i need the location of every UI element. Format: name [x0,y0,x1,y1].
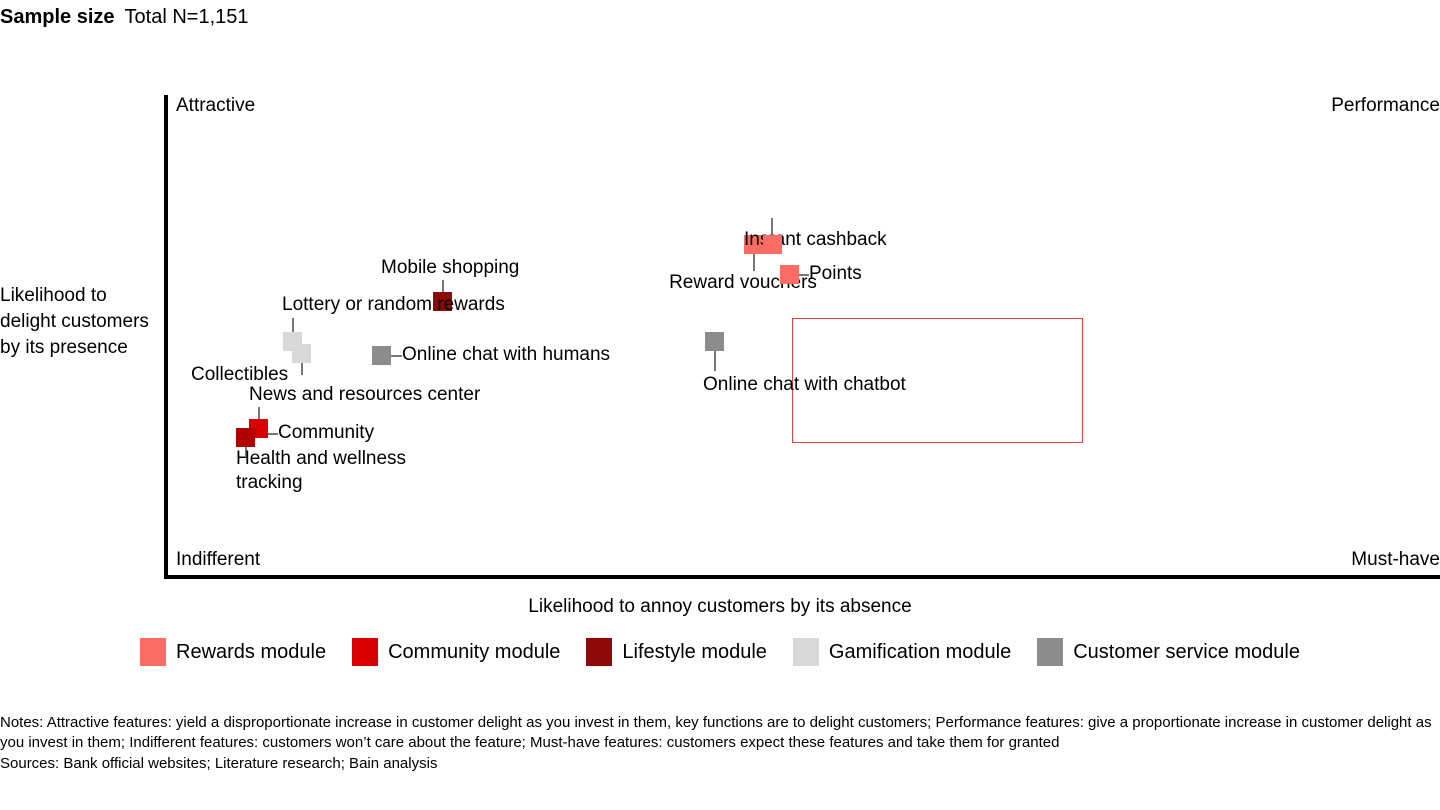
legend-swatch-customer-service-module [1037,638,1063,666]
y-axis-line [164,95,168,579]
legend-label-lifestyle-module: Lifestyle module [622,641,767,664]
footnotes: Notes: Attractive features: yield a disp… [0,713,1440,774]
quadrant-label-must-have: Must-have [1351,549,1440,571]
y-axis-title: Likelihood to delight customers by its p… [0,283,160,361]
marker-instant-cashback[interactable] [763,235,782,254]
sample-size-label: Sample size [0,6,115,28]
leader-line-instant-cashback [771,218,773,235]
legend-swatch-community-module [352,638,378,666]
point-label-online-chat-with-humans: Online chat with humans [402,343,610,367]
quadrant-label-indifferent: Indifferent [176,549,260,571]
leader-line-lottery-or-random-rewards [292,318,294,332]
chart-legend: Rewards module Community module Lifestyl… [0,638,1440,666]
scatter-plot-area: Attractive Performance Indifferent Must-… [164,95,1440,579]
legend-swatch-rewards-module [140,638,166,666]
marker-points[interactable] [780,265,799,284]
marker-health-and-wellness-tracking[interactable] [236,428,255,447]
point-label-mobile-shopping: Mobile shopping [381,256,519,280]
legend-item-customer-service-module[interactable]: Customer service module [1037,638,1300,666]
legend-item-gamification-module[interactable]: Gamification module [793,638,1011,666]
legend-swatch-lifestyle-module [586,638,612,666]
sample-size-header: Sample sizeTotal N=1,151 [0,6,249,29]
marker-online-chat-with-chatbot[interactable] [705,332,724,351]
point-label-points: Points [809,262,862,286]
x-axis-line [164,575,1440,579]
leader-line-online-chat-with-humans [391,355,402,357]
quadrant-label-performance: Performance [1331,95,1440,117]
legend-label-customer-service-module: Customer service module [1073,641,1300,664]
point-label-health-and-wellness-tracking: Health and wellness tracking [236,447,416,495]
sample-size-value: Total N=1,151 [125,6,249,28]
legend-item-rewards-module[interactable]: Rewards module [140,638,326,666]
point-label-news-and-resources-center: News and resources center [249,383,480,407]
quadrant-label-attractive: Attractive [176,95,255,117]
leader-line-mobile-shopping [442,280,444,292]
legend-label-community-module: Community module [388,641,560,664]
footnote-notes: Notes: Attractive features: yield a disp… [0,713,1440,752]
legend-label-rewards-module: Rewards module [176,641,326,664]
leader-line-collectibles [301,363,303,375]
legend-item-lifestyle-module[interactable]: Lifestyle module [586,638,767,666]
point-label-community: Community [278,421,374,445]
leader-line-online-chat-with-chatbot [714,351,716,371]
legend-label-gamification-module: Gamification module [829,641,1011,664]
marker-online-chat-with-humans[interactable] [372,346,391,365]
legend-swatch-gamification-module [793,638,819,666]
leader-line-community [268,433,278,435]
legend-item-community-module[interactable]: Community module [352,638,560,666]
footnote-sources: Sources: Bank official websites; Literat… [0,754,1440,774]
point-label-lottery-or-random-rewards: Lottery or random rewards [282,293,505,317]
point-label-online-chat-with-chatbot: Online chat with chatbot [703,373,906,397]
marker-collectibles[interactable] [292,344,311,363]
leader-line-reward-vouchers [753,254,755,271]
leader-line-points [799,274,809,276]
x-axis-title: Likelihood to annoy customers by its abs… [0,596,1440,618]
leader-line-news-and-resources-center [258,407,260,419]
